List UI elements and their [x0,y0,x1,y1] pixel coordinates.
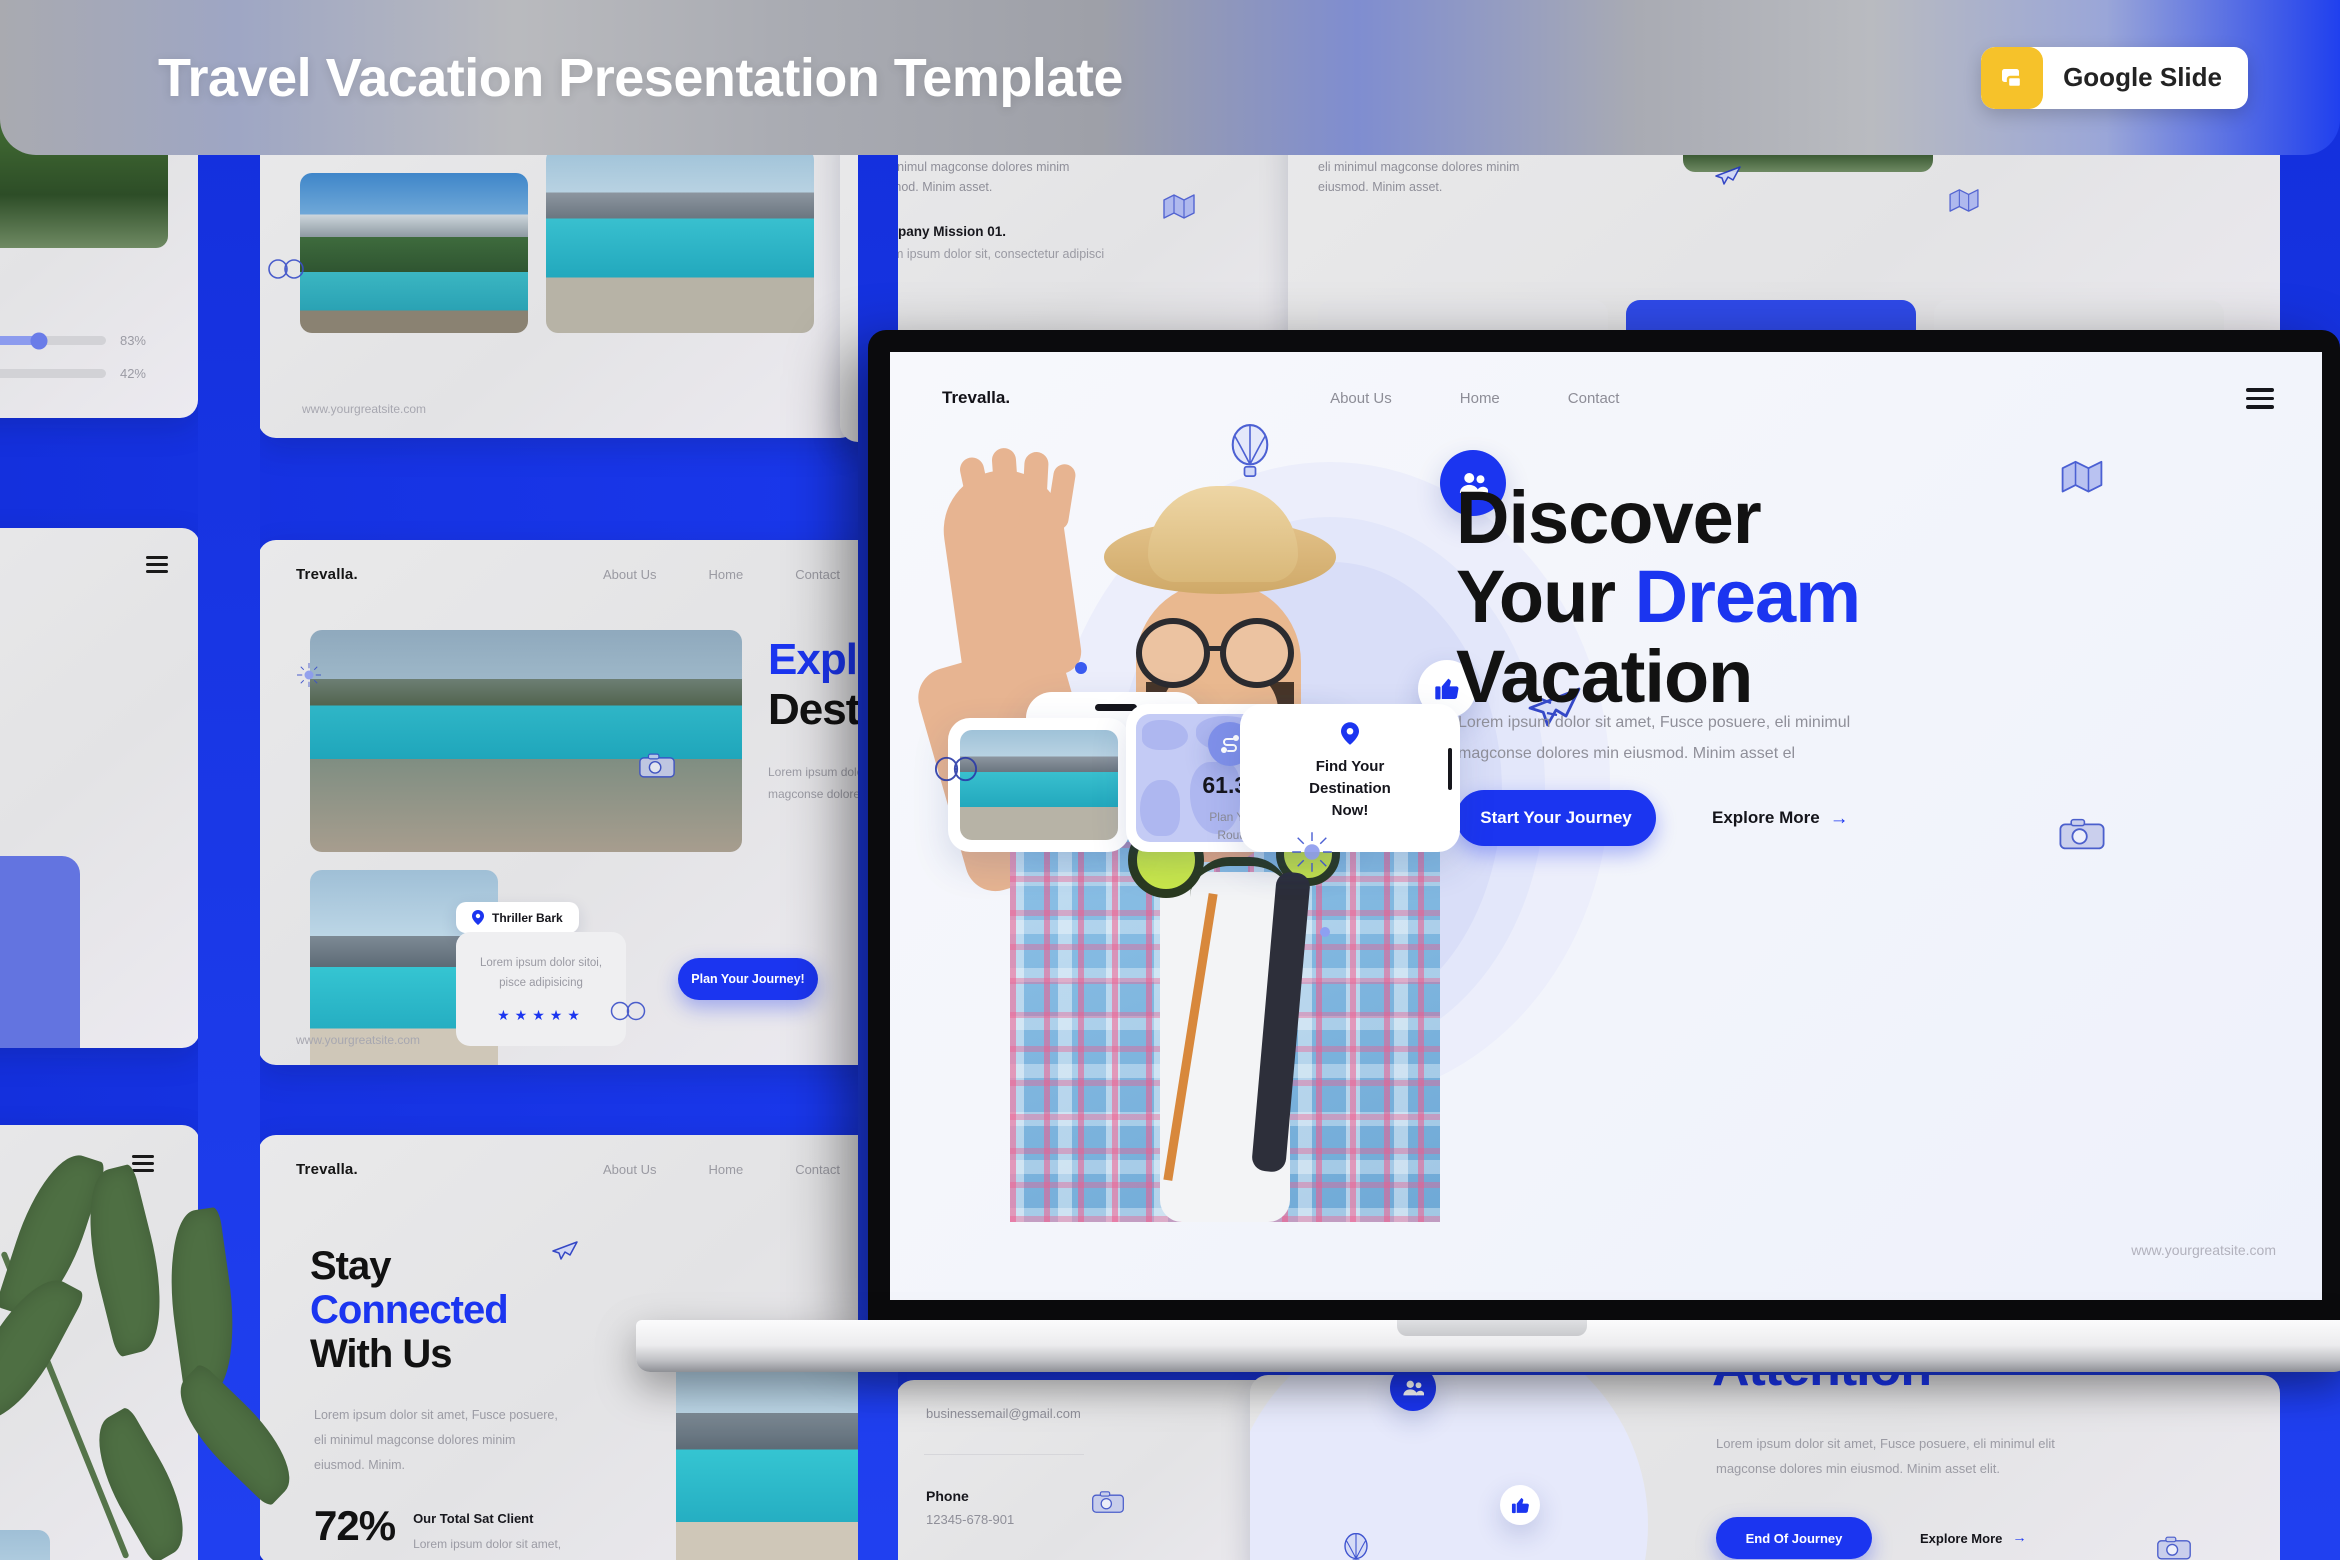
slide-gallery-url: www.yourgreatsite.com [302,402,426,416]
testimonial-role: Our Best Guide [0,909,80,924]
hero-site-url: www.yourgreatsite.com [2131,1242,2276,1258]
hero-primary-button[interactable]: Start Your Journey [1456,790,1656,846]
explore-nav-home[interactable]: Home [709,567,744,582]
slide-testimonial[interactable]: Ellie White Our Best Guide "Lorem ipsum … [0,528,200,1048]
site-nav: Trevalla. About Us Home Contact [942,388,2274,409]
location-pin-icon [1240,722,1460,750]
gallery-photo-2 [546,148,814,333]
glasses-icon [268,258,304,280]
hot-air-balloon-icon [1342,1533,1370,1560]
google-slide-badge[interactable]: Google Slide [1981,47,2248,109]
explore-review-2: pisce adipisicing [472,974,610,994]
camera-icon [1091,1490,1125,1514]
connected-heading-2: Connected [310,1288,508,1332]
dot [1320,927,1330,937]
gallery-photo-1 [300,173,528,333]
explore-tag-label: Thriller Bark [492,911,563,925]
map-fold-icon [1948,187,1980,213]
contact-phone-value: 12345-678-901 [926,1512,1014,1527]
slide-stats-left[interactable]: 83% 42% [0,118,198,418]
arrow-right-icon: → [2012,1530,2026,1546]
testimonial-card: Ellie White Our Best Guide "Lorem ipsum … [0,856,80,1048]
google-slides-icon [1981,47,2043,109]
laptop-screen[interactable]: Trevalla. About Us Home Contact [890,352,2322,1300]
camera-icon [638,752,676,779]
connected-nav: Trevalla. About Us Home Contact [296,1161,840,1178]
site-brand: Trevalla. [942,388,1010,408]
testimonial-quote-2: amet, posuere" [0,971,80,992]
slide-explore[interactable]: Trevalla. About Us Home Contact Thriller… [258,540,878,1065]
hero-explore-more-link[interactable]: Explore More → [1712,807,1848,829]
connected-p3: eiusmod. Minim. [314,1453,558,1478]
laptop-mockup: Trevalla. About Us Home Contact [868,330,2340,1330]
mission-subhead: Company Mission 01. [868,224,1104,239]
dot [1075,662,1087,674]
connected-nav-about[interactable]: About Us [603,1162,656,1177]
glasses-icon [610,1000,646,1022]
connected-p2: eli minimul magconse dolores minim [314,1428,558,1453]
progress-label-1: 83% [120,333,146,348]
explore-nav: Trevalla. About Us Home Contact [296,566,840,583]
attention-explore-more-link[interactable]: Explore More → [1920,1530,2027,1546]
explore-p1: Lorem ipsum dolor [768,762,867,784]
contact-email: businessemail@gmail.com [926,1406,1081,1421]
glasses-icon [934,756,978,782]
connected-brand: Trevalla. [296,1161,358,1178]
camera-icon [2058,817,2106,851]
why-p2: eli minimul magconse dolores minim [1318,157,1648,178]
attention-primary-button[interactable]: End Of Journey [1716,1517,1872,1559]
airplane-icon [550,1235,580,1263]
slide-attention[interactable]: Attention Lorem ipsum dolor sit amet, Fu… [1250,1375,2280,1560]
hero-paragraph: Lorem ipsum dolor sit amet, Fusce posuer… [1458,707,1918,769]
thumbs-up-icon[interactable] [1500,1485,1540,1525]
testimonial-stars: ★★★★★ [0,1018,80,1043]
hamburger-menu-icon[interactable] [2246,388,2274,409]
attention-heading: Attention [1712,1375,1931,1394]
connected-p1: Lorem ipsum dolor sit amet, Fusce posuer… [314,1403,558,1428]
site-nav-contact[interactable]: Contact [1568,390,1620,407]
explore-nav-about[interactable]: About Us [603,567,656,582]
explore-url: www.yourgreatsite.com [296,1033,420,1047]
sun-icon [1290,830,1334,874]
attention-p1: Lorem ipsum dolor sit amet, Fusce posuer… [1716,1431,2055,1456]
destination-line-3: Now! [1240,800,1460,822]
progress-bar-1[interactable] [0,336,106,345]
camera-icon [2156,1535,2192,1560]
hero-title-line2: Your Dream [1456,559,1860,634]
explore-review-card: Lorem ipsum dolor sitoi, pisce adipisici… [456,932,626,1046]
mission-p3: eiusmod. Minim asset. [868,177,1168,198]
card-accent-bar [1448,748,1452,790]
explore-brand: Trevalla. [296,566,358,583]
explore-review-1: Lorem ipsum dolor sitoi, [472,954,610,974]
connected-stat-value: 72% [314,1505,395,1546]
connected-heading-3: With Us [310,1332,452,1376]
destination-line-1: Find Your [1240,756,1460,778]
explore-heading-2: Dest [768,685,859,734]
hero-title-accent: Dream [1635,555,1860,638]
connected-stat-copy-1: Lorem ipsum dolor sit amet, [413,1534,561,1556]
connected-stat-copy-2: Fusce posu, magconse [413,1556,561,1560]
bringing-photo [0,1530,50,1560]
divider [924,1454,1084,1455]
explore-stars: ★★★★★ [472,1007,610,1024]
sun-icon [294,660,324,690]
destination-card[interactable]: Find Your Destination Now! [1240,704,1460,852]
photo-card[interactable] [948,718,1130,852]
airplane-icon [1713,160,1743,188]
connected-heading-1: Stay [310,1244,391,1288]
explore-p2: magconse dolores [768,784,867,806]
why-p3: eiusmod. Minim asset. [1318,177,1648,198]
testimonial-name: Ellie White [0,886,80,903]
slide-gallery[interactable]: www.yourgreatsite.com [258,118,858,438]
halo [1250,1375,1648,1560]
background-collage: 83% 42% www.yourgreatsite.com Lorem ipsu… [0,0,2340,1560]
page-header: Travel Vacation Presentation Template Go… [0,0,2340,155]
map-fold-icon [1162,192,1196,220]
map-fold-icon [2060,457,2104,495]
hero-title-line3: Vacation [1456,639,1860,714]
mission-subcopy: Lorem ipsum dolor sit, consectetur adipi… [868,247,1104,261]
mountain-lake-photo [960,730,1118,840]
site-nav-home[interactable]: Home [1460,390,1500,407]
mission-p2: eli minimul magconse dolores minim [868,157,1168,178]
attention-p2: magconse dolores min eiusmod. Minim asse… [1716,1456,2055,1481]
hamburger-menu-icon[interactable] [132,1155,154,1172]
progress-label-2: 42% [120,366,146,381]
explore-nav-contact[interactable]: Contact [795,567,840,582]
site-nav-about[interactable]: About Us [1330,390,1392,407]
laptop-base [636,1320,2340,1372]
card-handle [1095,704,1137,711]
laptop-notch [1397,1320,1587,1336]
hot-air-balloon-icon [1228,424,1272,478]
page-title: Travel Vacation Presentation Template [158,47,1123,109]
hamburger-menu-icon[interactable] [146,556,168,573]
connected-stat-title: Our Total Sat Client [413,1511,561,1526]
hero-title-line1: Discover [1456,480,1860,555]
destination-line-2: Destination [1240,778,1460,800]
connected-nav-contact[interactable]: Contact [795,1162,840,1177]
contact-phone-label: Phone [926,1488,1014,1504]
google-slide-label: Google Slide [2043,62,2248,93]
location-pin-icon [472,910,484,925]
arrow-right-icon: → [1830,807,1849,829]
explore-location-tag[interactable]: Thriller Bark [456,902,579,933]
progress-bar-2[interactable] [0,369,106,378]
testimonial-quote-1: "Lorem ipsum dolor sit [0,950,80,971]
connected-nav-home[interactable]: Home [709,1162,744,1177]
explore-photo-main [310,630,742,852]
explore-plan-journey-button[interactable]: Plan Your Journey! [678,958,818,1000]
